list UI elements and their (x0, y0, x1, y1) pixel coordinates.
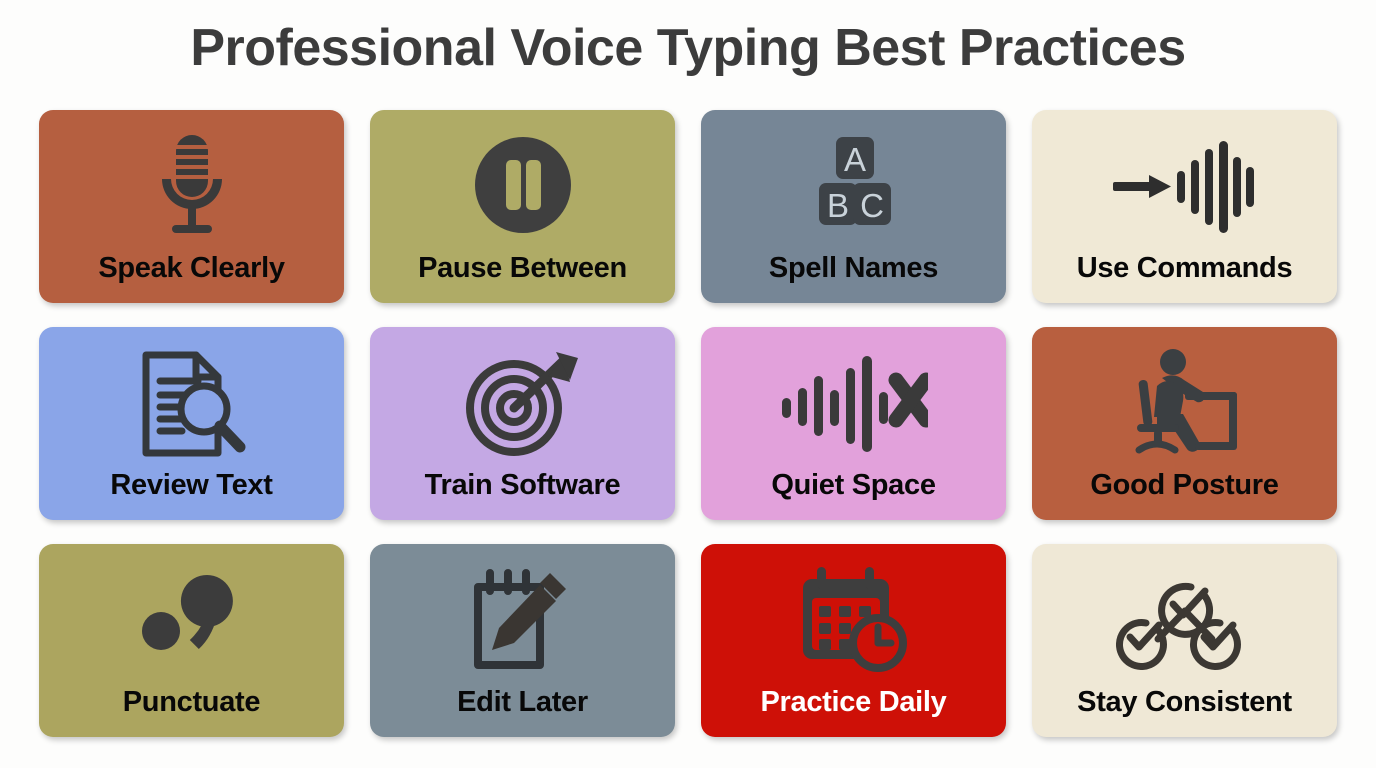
card-label: Punctuate (39, 680, 344, 737)
abc-blocks-icon: A B C (795, 128, 913, 246)
svg-text:C: C (860, 187, 884, 224)
card-good-posture[interactable]: Good Posture (1032, 327, 1337, 520)
best-practices-grid: Speak Clearly Pause Between A (39, 110, 1337, 737)
microphone-icon (138, 128, 246, 246)
card-label: Train Software (370, 463, 675, 520)
card-label: Good Posture (1032, 463, 1337, 520)
card-label: Review Text (39, 463, 344, 520)
card-label: Spell Names (701, 246, 1006, 303)
card-label: Quiet Space (701, 463, 1006, 520)
svg-text:A: A (843, 141, 865, 178)
card-label: Edit Later (370, 680, 675, 737)
target-arrow-icon (464, 345, 582, 463)
card-punctuate[interactable]: Punctuate (39, 544, 344, 737)
checkmark-network-icon (1116, 562, 1254, 680)
svg-text:B: B (826, 187, 848, 224)
card-review-text[interactable]: Review Text (39, 327, 344, 520)
card-spell-names[interactable]: A B C Spell Names (701, 110, 1006, 303)
document-search-icon (130, 345, 254, 463)
infographic-poster: Professional Voice Typing Best Practices (0, 0, 1376, 768)
card-use-commands[interactable]: Use Commands (1032, 110, 1337, 303)
notepad-pencil-icon (464, 562, 582, 680)
card-quiet-space[interactable]: Quiet Space (701, 327, 1006, 520)
arrow-waveform-icon (1109, 128, 1261, 246)
card-stay-consistent[interactable]: Stay Consistent (1032, 544, 1337, 737)
waveform-mute-icon (780, 345, 928, 463)
card-pause-between[interactable]: Pause Between (370, 110, 675, 303)
card-label: Practice Daily (701, 680, 1006, 737)
card-edit-later[interactable]: Edit Later (370, 544, 675, 737)
card-speak-clearly[interactable]: Speak Clearly (39, 110, 344, 303)
page-title: Professional Voice Typing Best Practices (0, 18, 1376, 78)
card-label: Speak Clearly (39, 246, 344, 303)
calendar-clock-icon (795, 562, 913, 680)
card-label: Pause Between (370, 246, 675, 303)
person-at-desk-icon (1121, 345, 1249, 463)
card-label: Use Commands (1032, 246, 1337, 303)
pause-circle-icon (469, 128, 577, 246)
card-train-software[interactable]: Train Software (370, 327, 675, 520)
period-comma-icon (133, 562, 251, 680)
card-label: Stay Consistent (1032, 680, 1337, 737)
card-practice-daily[interactable]: Practice Daily (701, 544, 1006, 737)
